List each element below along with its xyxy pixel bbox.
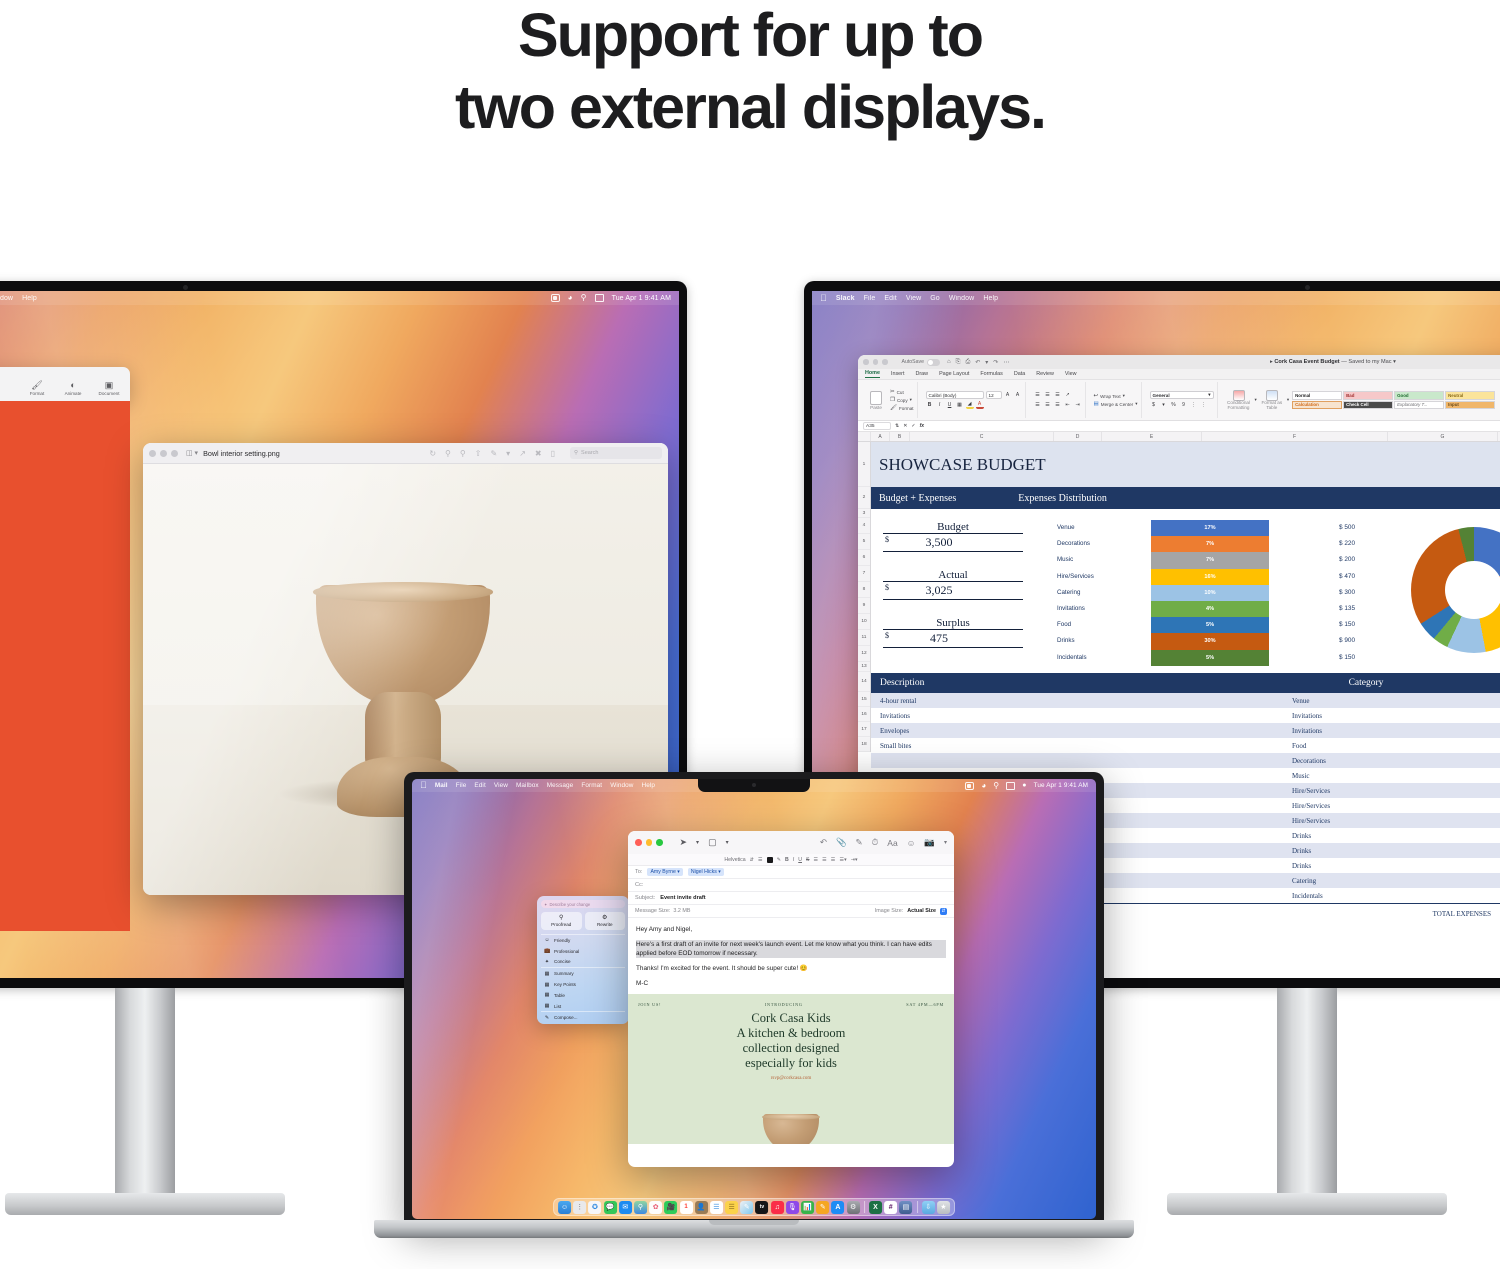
row-6[interactable]: 6: [858, 550, 870, 566]
keynote-icon[interactable]: ▤: [899, 1201, 912, 1214]
macbook-notch: [698, 779, 810, 792]
search-icon[interactable]: ⚲: [581, 294, 587, 302]
menubar-clock[interactable]: Tue Apr 1 9:41 AM: [612, 295, 671, 302]
reply-icon[interactable]: ↶: [820, 837, 827, 848]
display-camera-right: [1305, 285, 1310, 290]
table-header-category: Category: [1276, 678, 1456, 688]
image-size-stepper[interactable]: ⇵: [940, 908, 947, 915]
kpi-budget-label: Budget: [883, 521, 1023, 534]
font-size-icon[interactable]: ⇵: [750, 857, 754, 863]
freeform-icon[interactable]: ✎: [740, 1201, 753, 1214]
column-c[interactable]: C: [910, 432, 1054, 441]
close-button[interactable]: [149, 450, 156, 457]
number-format-select[interactable]: General ▾: [1150, 391, 1214, 399]
align-right-icon[interactable]: ☰: [1054, 401, 1062, 409]
open-icon[interactable]: ⎘: [956, 359, 961, 366]
window-controls[interactable]: [863, 359, 888, 365]
column-d[interactable]: D: [1054, 432, 1102, 441]
tone-concise[interactable]: ✦ Concise: [537, 957, 629, 968]
safari-icon[interactable]: ✪: [588, 1201, 601, 1214]
font-family-select[interactable]: Calibri (Body): [926, 391, 984, 399]
chevron-down-icon[interactable]: ▾: [1287, 397, 1289, 403]
highlight-icon[interactable]: ✎: [777, 857, 781, 863]
chevron-down-icon[interactable]: ▾: [1160, 401, 1168, 409]
increase-indent-icon[interactable]: ⇥: [1074, 401, 1082, 409]
row-8[interactable]: 8: [858, 582, 870, 598]
export-icon[interactable]: ↗: [519, 449, 526, 458]
decrease-indent-icon[interactable]: ⇤: [1064, 401, 1072, 409]
menubar-item-format[interactable]: Format: [581, 782, 602, 789]
search-placeholder: Search: [581, 450, 598, 456]
compose-action[interactable]: ✎ Compose...: [537, 1012, 629, 1023]
chevron-down-icon[interactable]: ▾: [696, 839, 699, 846]
row-16[interactable]: 16: [858, 707, 870, 722]
format-summary[interactable]: ▦ Summary: [537, 968, 629, 979]
writing-tools-panel[interactable]: ✦ Describe your change ⚲ Proofread ⚙ Rew…: [537, 896, 629, 1024]
contacts-icon[interactable]: 👤: [695, 1201, 708, 1214]
markup-icon[interactable]: ✎: [856, 837, 863, 848]
menubar-item-view[interactable]: View: [906, 295, 921, 302]
menubar-item-help[interactable]: Help: [22, 295, 37, 302]
excel-icon[interactable]: X: [869, 1201, 882, 1214]
doc-chevron-icon: ▸: [1270, 359, 1273, 365]
display-camera-left: [183, 285, 188, 290]
minimize-button[interactable]: [873, 359, 879, 365]
format-list[interactable]: ▦ List: [537, 1001, 629, 1012]
apple-menu-icon[interactable]: : [820, 294, 827, 303]
row-14[interactable]: 14: [858, 672, 870, 692]
comma-button[interactable]: 9: [1180, 401, 1188, 409]
bar-incidentals: 5%: [1151, 650, 1269, 666]
wrap-text-label: Wrap Text: [1100, 394, 1121, 399]
launchpad-icon[interactable]: ⋮: [573, 1201, 586, 1214]
bar-catering: 10%: [1151, 585, 1269, 601]
minimize-button[interactable]: [646, 839, 653, 846]
finder-icon[interactable]: ☺: [558, 1201, 571, 1214]
rotate-icon[interactable]: ↻: [429, 449, 436, 458]
donut-hole: [1445, 561, 1500, 619]
menubar-item-message[interactable]: Message: [547, 782, 574, 789]
italic-button[interactable]: I: [936, 401, 944, 409]
undo-icon[interactable]: ↶: [975, 359, 980, 366]
underline-button[interactable]: U: [798, 857, 802, 863]
row-category: Hire/Services: [1276, 817, 1456, 825]
chevron-down-icon[interactable]: ▾: [944, 839, 947, 846]
merge-center-button[interactable]: ▤Merge & Center▾: [1094, 401, 1138, 407]
expense-label: Hire/Services: [1057, 569, 1149, 585]
menubar-item-window[interactable]: Window: [0, 295, 13, 302]
style-explanatory[interactable]: Explanatory T...: [1394, 401, 1444, 410]
row-11[interactable]: 11: [858, 630, 870, 646]
row-7[interactable]: 7: [858, 566, 870, 582]
mail-paragraph-selected: Here's a first draft of an invite for ne…: [636, 940, 946, 958]
send-icon[interactable]: ➤: [680, 837, 688, 848]
proofread-button[interactable]: ⚲ Proofread: [541, 912, 582, 930]
summary-region: Budget $ 3,500 Actual $: [871, 509, 1500, 663]
mail-subject-row[interactable]: Subject: Event invite draft: [628, 892, 954, 905]
notes-icon[interactable]: ☰: [725, 1201, 738, 1214]
style-input[interactable]: Input: [1445, 401, 1495, 410]
table-row[interactable]: Small bites Food: [871, 738, 1500, 753]
stationery-icon[interactable]: ▢: [708, 837, 717, 848]
cancel-icon[interactable]: ✕: [903, 423, 907, 429]
row-18[interactable]: 18: [858, 737, 870, 752]
macbook-screen:  Mail File Edit View Mailbox Message Fo…: [412, 779, 1096, 1219]
indent-icon[interactable]: ⇥▾: [851, 857, 858, 863]
crop-icon[interactable]: ▯: [551, 449, 555, 458]
tab-page-layout[interactable]: Page Layout: [939, 371, 969, 377]
siri-icon[interactable]: ●: [1022, 782, 1026, 789]
select-all-corner[interactable]: [858, 432, 871, 441]
row-13[interactable]: 13: [858, 662, 870, 672]
animate-icon: ◐: [60, 380, 86, 391]
magnifier-icon: ⚲: [541, 915, 582, 922]
macbook-notch-cutout: [709, 1220, 799, 1225]
settings-icon[interactable]: ⚙: [847, 1201, 860, 1214]
style-check-cell[interactable]: Check Cell: [1343, 401, 1393, 410]
display-stand-neck-left: [115, 988, 175, 1193]
table-row[interactable]: Decorations: [871, 753, 1500, 768]
ribbon-group-number: General ▾ $ ▾ % 9 ⋮ ⋮: [1147, 382, 1218, 418]
align-left-icon[interactable]: ☰: [813, 857, 818, 863]
search-icon[interactable]: ⚲: [993, 782, 999, 790]
facetime-icon[interactable]: 🎥: [664, 1201, 677, 1214]
percent-button[interactable]: %: [1170, 401, 1178, 409]
attach-icon[interactable]: 📎: [836, 837, 847, 848]
timer-icon[interactable]: ⏱: [872, 837, 879, 848]
tab-formulas[interactable]: Formulas: [980, 371, 1002, 377]
sidebar-icon[interactable]: ◫ ▾: [186, 449, 198, 457]
downloads-icon[interactable]: ⇩: [922, 1201, 935, 1214]
zoom-in-icon[interactable]: ⚲: [460, 449, 466, 458]
battery-icon[interactable]: [965, 782, 974, 790]
redo-icon[interactable]: ↷: [993, 359, 998, 366]
maximize-button[interactable]: [656, 839, 663, 846]
row-9[interactable]: 9: [858, 598, 870, 614]
format-key-points[interactable]: ▦ Key Points: [537, 979, 629, 990]
row-4[interactable]: 4: [858, 518, 870, 534]
font-style-icon[interactable]: ☰: [758, 857, 763, 863]
maps-icon[interactable]: ⚲: [634, 1201, 647, 1214]
row-10[interactable]: 10: [858, 614, 870, 630]
tab-insert[interactable]: Insert: [891, 371, 904, 377]
menubar-item-view[interactable]: View: [494, 782, 508, 789]
align-bottom-icon[interactable]: ☰: [1054, 391, 1062, 399]
slack-icon[interactable]: #: [884, 1201, 897, 1214]
summary-label: Summary: [554, 971, 574, 976]
format-painter-button[interactable]: 🖌Format: [890, 405, 914, 411]
invite-headline: Cork Casa Kids A kitchen & bedroom colle…: [638, 1011, 944, 1071]
menubar-item-mail[interactable]: Mail: [435, 782, 448, 789]
copy-icon: ❐: [890, 397, 895, 403]
excel-titlebar[interactable]: AutoSave ⌂ ⎘ ⎙ ↶ ▾ ↷ ⋯ ▸ Cork Casa Event…: [858, 355, 1500, 369]
search-icon: ⚲: [574, 450, 578, 456]
format-as-table-label: Format as Table: [1260, 401, 1284, 411]
recipient-chip[interactable]: Amy Byrne ▾: [647, 868, 682, 876]
emoji-icon[interactable]: ☺: [907, 838, 916, 848]
mail-body[interactable]: Hey Amy and Nigel, Here's a first draft …: [628, 918, 954, 988]
copy-button[interactable]: ❐Copy▾: [890, 397, 914, 403]
align-top-icon[interactable]: ☰: [1034, 391, 1042, 399]
currency-button[interactable]: $: [1150, 401, 1158, 409]
color-swatch[interactable]: [767, 857, 773, 863]
borders-icon[interactable]: ▦: [956, 401, 964, 409]
menubar-item-file[interactable]: File: [864, 295, 876, 302]
bold-button[interactable]: B: [926, 401, 934, 409]
tab-review[interactable]: Review: [1036, 371, 1054, 377]
podcasts-icon[interactable]: 🎙: [786, 1201, 799, 1214]
chevron-down-icon[interactable]: ▾: [910, 397, 912, 403]
shrink-font-button[interactable]: A: [1014, 391, 1022, 399]
key-points-label: Key Points: [554, 982, 576, 987]
battery-icon[interactable]: [551, 294, 560, 302]
keynote-animate-button[interactable]: ◐ Animate: [60, 380, 86, 396]
recipient-chip[interactable]: Nigel Hicks ▾: [688, 868, 724, 876]
mail-icon[interactable]: ✉: [619, 1201, 632, 1214]
photo-icon[interactable]: 📷: [924, 837, 935, 848]
spinner-icon[interactable]: ⇅: [895, 423, 899, 429]
menubar-item-window[interactable]: Window: [610, 782, 633, 789]
expense-label: Food: [1057, 617, 1149, 633]
maximize-button[interactable]: [882, 359, 888, 365]
font-family-select[interactable]: Helvetica: [724, 857, 745, 863]
tone-professional[interactable]: 💼 Professional: [537, 946, 629, 957]
underline-button[interactable]: U: [946, 401, 954, 409]
paste-icon: [870, 391, 882, 405]
section-header-band: Budget + Expenses Expenses Distribution: [871, 487, 1500, 509]
reminders-icon[interactable]: ☰: [710, 1201, 723, 1214]
keynote-window[interactable]: Deck — Edited 🖻 Media 💬 Comment: [0, 367, 130, 401]
numbers-icon[interactable]: 📊: [801, 1201, 814, 1214]
menubar-item-file[interactable]: File: [456, 782, 467, 789]
autosave-toggle[interactable]: [927, 359, 940, 366]
pages-icon[interactable]: ✎: [816, 1201, 829, 1214]
kpi-budget-value: 3,500: [926, 535, 953, 550]
search-input[interactable]: ⚲ Search: [570, 447, 662, 459]
bullet-list-icon[interactable]: ☰▾: [839, 857, 846, 863]
column-a[interactable]: A: [871, 432, 890, 441]
bar-decorations: 7%: [1151, 536, 1269, 552]
format-table[interactable]: ▦ Table: [537, 990, 629, 1001]
menubar-left:  Keynote File Edit Insert Slide Format …: [0, 291, 679, 305]
amount-value: $ 500: [1339, 520, 1355, 536]
dock-divider: [864, 1201, 865, 1213]
paste-button[interactable]: Paste: [865, 391, 887, 410]
chevron-down-icon[interactable]: ▾: [1123, 393, 1125, 399]
control-center-icon[interactable]: [595, 294, 604, 302]
rewrite-label: Rewrite: [597, 922, 613, 927]
chevron-down-icon[interactable]: ▾: [1135, 401, 1137, 407]
cut-button[interactable]: ✂Cut: [890, 389, 914, 395]
align-right-icon[interactable]: ☰: [831, 857, 836, 863]
row-category: Catering: [1276, 877, 1456, 885]
maximize-button[interactable]: [171, 450, 178, 457]
window-controls[interactable]: [635, 839, 663, 846]
ribbon-group-clipboard: Paste ✂Cut ❐Copy▾ 🖌Format: [862, 382, 918, 418]
name-box[interactable]: A35: [863, 422, 891, 430]
subject-label: Subject:: [635, 895, 655, 901]
font-size-select[interactable]: 12: [986, 391, 1002, 399]
row-17[interactable]: 17: [858, 722, 870, 737]
tab-home[interactable]: Home: [865, 370, 880, 378]
menubar-item-edit[interactable]: Edit: [884, 295, 896, 302]
menubar-clock[interactable]: Tue Apr 1 9:41 AM: [1034, 782, 1088, 789]
column-b[interactable]: B: [890, 432, 910, 441]
row-5[interactable]: 5: [858, 534, 870, 550]
menubar-item-window[interactable]: Window: [949, 295, 975, 302]
rewrite-button[interactable]: ⚙ Rewrite: [585, 912, 626, 930]
bar-food: 5%: [1151, 617, 1269, 633]
mail-toolbar: ➤ ▾ ▢ ▾ ↶ 📎 ✎ ⏱ Aa ☺ 📷 ▾: [628, 831, 954, 854]
tab-view[interactable]: View: [1065, 371, 1077, 377]
menubar-item-edit[interactable]: Edit: [474, 782, 485, 789]
row-1[interactable]: 1: [858, 442, 870, 487]
column-e[interactable]: E: [1102, 432, 1202, 441]
keynote-document-button[interactable]: ▣ Document: [96, 380, 122, 396]
strike-button[interactable]: S: [806, 857, 809, 863]
align-middle-icon[interactable]: ☰: [1044, 391, 1052, 399]
tone-friendly[interactable]: ☺ Friendly: [537, 935, 629, 946]
ribbon-group-alignment: ☰ ☰ ☰ ↗ ☰ ☰ ☰ ⇤ ⇥: [1031, 382, 1086, 418]
recipient-name: Nigel Hicks: [691, 869, 717, 875]
style-neutral[interactable]: Neutral: [1445, 391, 1495, 400]
menubar-item-help[interactable]: Help: [983, 295, 998, 302]
mail-to-row[interactable]: To: Amy Byrne ▾ Nigel Hicks ▾: [628, 866, 954, 879]
column-f[interactable]: F: [1202, 432, 1388, 441]
wifi-icon[interactable]: ◕: [568, 294, 573, 302]
row-category: Invitations: [1276, 712, 1456, 720]
home-icon[interactable]: ⌂: [947, 359, 951, 366]
accept-icon[interactable]: ✓: [911, 423, 915, 429]
page-title: Support for up to two external displays.: [0, 0, 1500, 144]
kpi-surplus-value-row: $ 475: [883, 630, 1023, 648]
tab-data[interactable]: Data: [1014, 371, 1025, 377]
fill-color-icon[interactable]: ◢: [966, 401, 974, 409]
row-12[interactable]: 12: [858, 646, 870, 662]
chevron-down-icon[interactable]: ▾: [985, 359, 988, 366]
row-category: Venue: [1276, 697, 1456, 705]
chevron-down-icon[interactable]: ▾: [726, 839, 729, 846]
mail-cc-row[interactable]: Cc:: [628, 879, 954, 892]
friendly-icon: ☺: [544, 937, 550, 943]
align-center-icon[interactable]: ☰: [822, 857, 827, 863]
window-controls[interactable]: [149, 450, 178, 457]
keynote-format-label: Format: [24, 391, 50, 396]
bar-venue: 17%: [1151, 520, 1269, 536]
row-3[interactable]: 3: [858, 509, 870, 518]
control-center-icon[interactable]: [1006, 782, 1015, 790]
table-row[interactable]: Invitations Invitations: [871, 708, 1500, 723]
menubar-item-slack[interactable]: Slack: [836, 295, 855, 302]
style-normal[interactable]: Normal: [1292, 391, 1342, 400]
bold-button[interactable]: B: [785, 857, 789, 863]
markup-icon[interactable]: ✎: [490, 449, 497, 458]
kpi-surplus: Surplus $ 475: [883, 617, 1023, 648]
close-button[interactable]: [635, 839, 642, 846]
trash-icon[interactable]: ★: [937, 1201, 950, 1214]
chevron-down-icon[interactable]: ▾: [506, 449, 510, 458]
dock[interactable]: ☺ ⋮ ✪ 💬 ✉ ⚲ ✿ 🎥 1 👤 ☰ ☰ ✎ tv ♫ 🎙 📊 ✎ A ⚙: [553, 1198, 955, 1216]
menubar-item-help[interactable]: Help: [642, 782, 656, 789]
friendly-label: Friendly: [554, 938, 570, 943]
more-icon[interactable]: ⋯: [1003, 359, 1009, 366]
preview-titlebar[interactable]: ◫ ▾ Bowl interior setting.png ↻ ⚲ ⚲ ⇧ ✎ …: [143, 443, 668, 464]
tab-draw[interactable]: Draw: [915, 371, 928, 377]
share-icon[interactable]: ⇧: [475, 449, 482, 458]
excel-formula-bar[interactable]: A35 ⇅ ✕ ✓ fx: [858, 421, 1500, 432]
style-bad[interactable]: Bad: [1343, 391, 1393, 400]
row-category: Drinks: [1276, 862, 1456, 870]
conditional-formatting-button[interactable]: Conditional Formatting: [1226, 390, 1252, 411]
describe-change-input[interactable]: ✦ Describe your change: [541, 900, 625, 908]
wrap-text-button[interactable]: ↩Wrap Text▾: [1094, 393, 1138, 399]
increase-decimal-icon[interactable]: ⋮: [1190, 401, 1198, 409]
style-good[interactable]: Good: [1394, 391, 1444, 400]
calendar-icon[interactable]: 1: [680, 1201, 693, 1214]
menubar-item-go[interactable]: Go: [930, 295, 940, 302]
row-description: Invitations: [871, 712, 1276, 720]
chevron-down-icon[interactable]: ▾: [1393, 359, 1396, 365]
music-icon[interactable]: ♫: [771, 1201, 784, 1214]
italic-button[interactable]: I: [793, 857, 794, 863]
kpi-surplus-label: Surplus: [883, 617, 1023, 630]
orientation-icon[interactable]: ↗: [1064, 391, 1072, 399]
format-icon: 🖌: [24, 380, 50, 391]
cc-label: Cc:: [635, 882, 643, 888]
appstore-icon[interactable]: A: [831, 1201, 844, 1214]
chevron-down-icon[interactable]: ▾: [1255, 397, 1257, 403]
close-button[interactable]: [863, 359, 869, 365]
wifi-icon[interactable]: ◕: [981, 782, 986, 790]
table-row[interactable]: 4-hour rental Venue: [871, 693, 1500, 708]
menubar-item-mailbox[interactable]: Mailbox: [516, 782, 539, 789]
appletv-icon[interactable]: tv: [756, 1201, 769, 1214]
expense-label: Catering: [1057, 585, 1149, 601]
minimize-button[interactable]: [160, 450, 167, 457]
align-left-icon[interactable]: ☰: [1034, 401, 1042, 409]
cut-label: Cut: [897, 390, 904, 395]
row-15[interactable]: 15: [858, 692, 870, 707]
row-category: Decorations: [1276, 757, 1456, 765]
expense-amount-list: $ 500 $ 220 $ 200 $ 470 $ 300 $ 135 $ 15…: [1339, 520, 1355, 666]
zoom-out-icon[interactable]: ⚲: [445, 449, 451, 458]
table-row[interactable]: Envelopes Invitations: [871, 723, 1500, 738]
messages-icon[interactable]: 💬: [604, 1201, 617, 1214]
align-center-icon[interactable]: ☰: [1044, 401, 1052, 409]
total-expenses-label: TOTAL EXPENSES: [1351, 910, 1491, 918]
row-2[interactable]: 2: [858, 487, 870, 509]
font-color-icon[interactable]: A: [976, 401, 984, 409]
image-size-value[interactable]: Actual Size: [907, 908, 936, 914]
photos-icon[interactable]: ✿: [649, 1201, 662, 1214]
apple-menu-icon[interactable]: : [420, 781, 427, 790]
mail-compose-window[interactable]: ➤ ▾ ▢ ▾ ↶ 📎 ✎ ⏱ Aa ☺ 📷 ▾: [628, 831, 954, 1167]
decrease-decimal-icon[interactable]: ⋮: [1200, 401, 1208, 409]
format-icon[interactable]: Aa: [887, 838, 897, 848]
invite-attachment[interactable]: JOIN US! INTRODUCING SAT 4PM—6PM Cork Ca…: [628, 994, 954, 1144]
grow-font-button[interactable]: A: [1004, 391, 1012, 399]
fx-icon[interactable]: fx: [920, 423, 924, 429]
print-icon[interactable]: ⎙: [965, 359, 970, 366]
column-g[interactable]: G: [1388, 432, 1498, 441]
stop-icon[interactable]: ✖: [535, 449, 542, 458]
keynote-toolbar: 🖻 Media 💬 Comment ⇧ Share: [0, 376, 130, 401]
brush-icon: 🖌: [890, 405, 897, 411]
display-stand-neck-right: [1277, 988, 1337, 1193]
style-calculation[interactable]: Calculation: [1292, 401, 1342, 410]
format-as-table-button[interactable]: Format as Table: [1260, 390, 1284, 411]
keynote-format-button[interactable]: 🖌 Format: [24, 380, 50, 396]
